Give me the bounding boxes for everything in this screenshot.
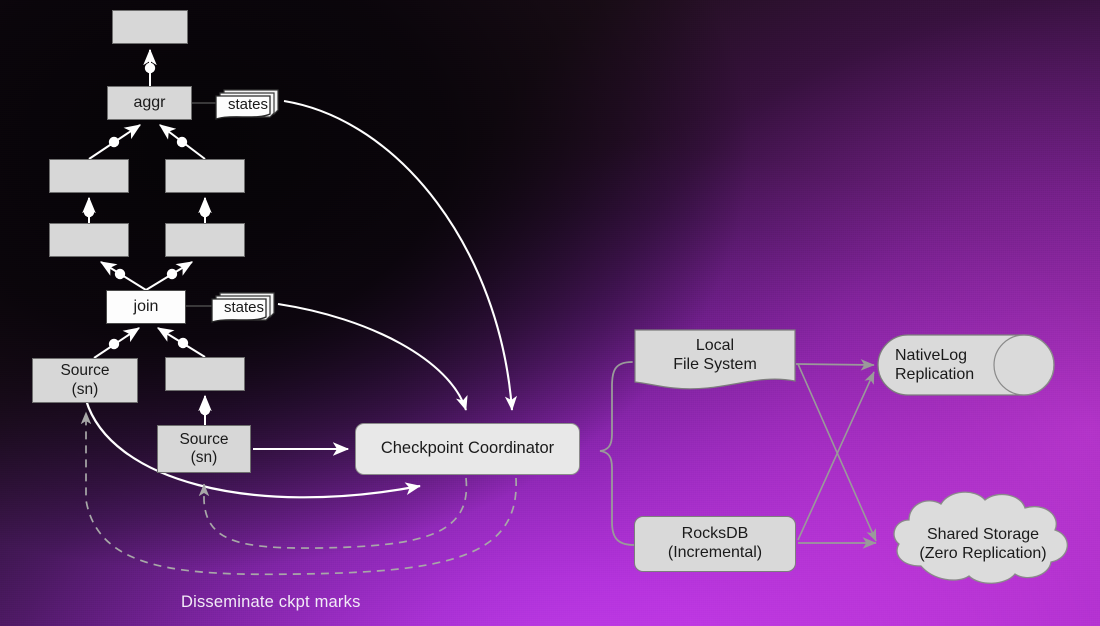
pipeline-node-aggr-label: aggr <box>133 94 165 113</box>
pipeline-node-join[interactable]: join <box>106 290 186 324</box>
pipeline-node-source-1[interactable]: Source (sn) <box>32 358 138 403</box>
edge-join-to-lowright <box>146 262 192 290</box>
edge-join-to-lowleft <box>101 262 146 290</box>
pipeline-node-mid-left[interactable] <box>49 159 129 193</box>
pipeline-node-mid-right[interactable] <box>165 159 245 193</box>
edge-states-aggr-to-coordinator <box>284 101 512 410</box>
brace-coordinator-to-storage <box>600 362 634 545</box>
diagram-canvas: aggr join Source (sn) Source (sn) states <box>0 0 1100 626</box>
target-shared-storage-text: Shared Storage (Zero Replication) <box>885 492 1081 592</box>
target-shared-storage-label: Shared Storage (Zero Replication) <box>919 525 1046 563</box>
checkpoint-coordinator-label: Checkpoint Coordinator <box>381 439 554 458</box>
edge-lowleft-to-midleft <box>84 198 94 223</box>
target-nativelog-replication[interactable]: NativeLog Replication <box>877 334 1055 396</box>
states-stack-aggr[interactable]: states <box>214 88 282 122</box>
disseminate-caption-label: Disseminate ckpt marks <box>181 593 361 611</box>
pipeline-node-source-1-label: Source (sn) <box>60 362 109 399</box>
edge-localfs-to-nativelog <box>796 364 874 365</box>
pipeline-node-aggr[interactable]: aggr <box>107 86 192 120</box>
target-nativelog-replication-text: NativeLog Replication <box>877 334 1073 396</box>
disseminate-caption: Disseminate ckpt marks <box>181 593 361 612</box>
pipeline-node-join-label: join <box>134 298 159 317</box>
edge-source2-to-opright <box>200 396 210 425</box>
states-stack-join-label: states <box>224 299 264 317</box>
states-stack-aggr-label: states <box>228 96 268 114</box>
edge-rocksdb-to-nativelog <box>798 372 874 540</box>
storage-local-file-system[interactable]: Local File System <box>634 329 796 395</box>
pipeline-node-low-left[interactable] <box>49 223 129 257</box>
edge-coordinator-to-source2-dashed <box>204 478 466 548</box>
states-stack-aggr-text: states <box>214 88 292 124</box>
edge-aggr-to-top <box>145 50 155 86</box>
storage-rocksdb-label: RocksDB (Incremental) <box>668 525 762 563</box>
target-shared-storage[interactable]: Shared Storage (Zero Replication) <box>885 492 1081 588</box>
storage-rocksdb[interactable]: RocksDB (Incremental) <box>634 516 796 572</box>
target-nativelog-replication-label: NativeLog Replication <box>895 346 974 384</box>
storage-local-file-system-label: Local File System <box>673 336 757 374</box>
edge-lowright-to-midright <box>200 198 210 223</box>
states-stack-join[interactable]: states <box>210 291 278 325</box>
edge-midright-to-aggr <box>160 125 205 159</box>
edge-opright-to-join <box>158 328 205 357</box>
pipeline-node-top[interactable] <box>112 10 188 44</box>
pipeline-node-source-2[interactable]: Source (sn) <box>157 425 251 473</box>
states-stack-join-text: states <box>210 291 288 327</box>
pipeline-node-op-right[interactable] <box>165 357 245 391</box>
edge-source1-to-join <box>94 328 139 358</box>
storage-local-file-system-text: Local File System <box>634 329 796 381</box>
edge-states-join-to-coordinator <box>278 304 466 410</box>
pipeline-node-source-2-label: Source (sn) <box>179 431 228 468</box>
pipeline-node-low-right[interactable] <box>165 223 245 257</box>
edge-midleft-to-aggr <box>89 125 140 159</box>
checkpoint-coordinator[interactable]: Checkpoint Coordinator <box>355 423 580 475</box>
